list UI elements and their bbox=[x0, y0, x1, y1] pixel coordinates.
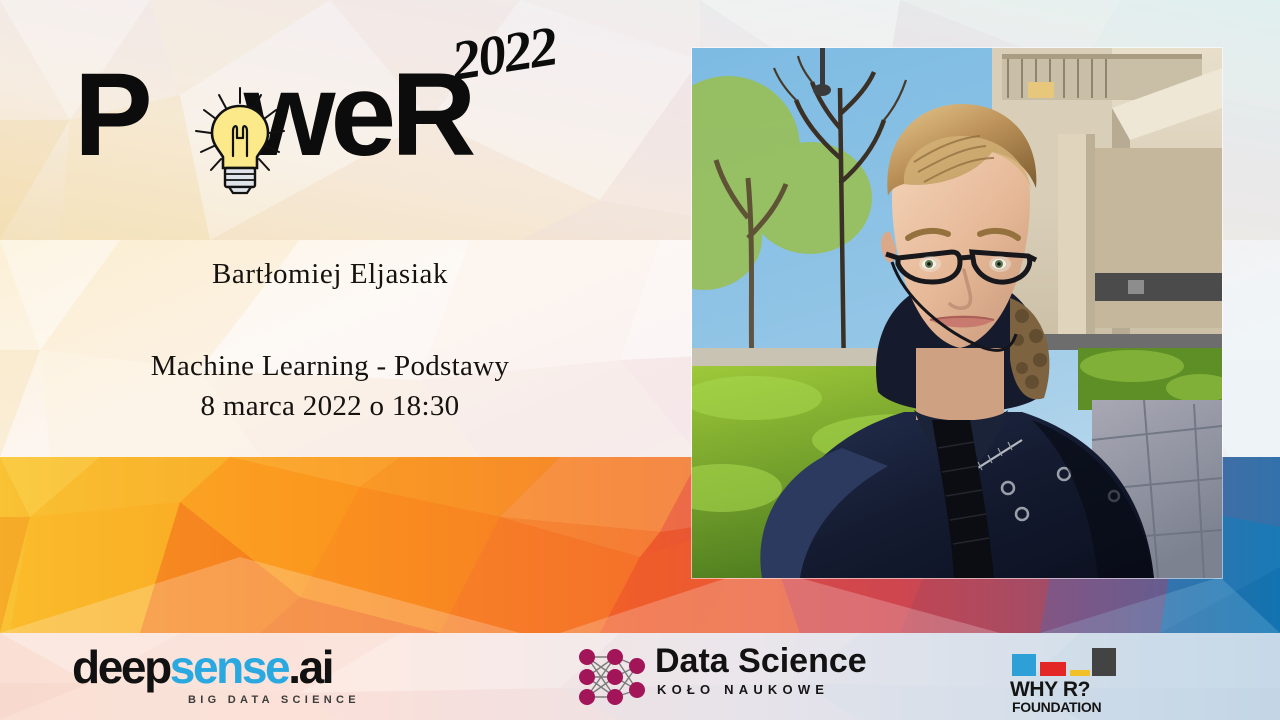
logo-datascience[interactable]: Data Science KOŁO NAUKOWE bbox=[575, 644, 825, 714]
speaker-name: Bartłomiej Eljasiak bbox=[0, 256, 660, 292]
deepsense-ai: .ai bbox=[288, 641, 332, 693]
presentation-slide: PweR bbox=[0, 0, 1280, 720]
talk-datetime: 8 marca 2022 o 18:30 bbox=[0, 386, 660, 426]
talk-info: Bartłomiej Eljasiak Machine Learning - P… bbox=[0, 256, 660, 426]
event-logo: PweR bbox=[74, 38, 594, 178]
deepsense-tagline: BIG DATA SCIENCE bbox=[188, 694, 360, 706]
deepsense-sense: sense bbox=[170, 641, 288, 693]
whyr-title: WHY R? bbox=[1010, 679, 1090, 700]
whyr-subtitle: FOUNDATION bbox=[1012, 700, 1101, 714]
logo-whyr[interactable]: WHY R? FOUNDATION bbox=[1012, 648, 1142, 714]
talk-title: Machine Learning - Podstawy bbox=[0, 346, 660, 386]
logo-letter-p: P bbox=[74, 56, 148, 174]
datascience-title: Data Science bbox=[655, 642, 867, 680]
logo-deepsense[interactable]: deepsense.ai bbox=[72, 644, 332, 690]
deepsense-deep: deep bbox=[72, 641, 170, 693]
datascience-subtitle: KOŁO NAUKOWE bbox=[657, 682, 829, 697]
lightbulb-icon bbox=[192, 86, 288, 196]
neural-network-icon bbox=[575, 646, 647, 713]
speaker-photo bbox=[692, 48, 1222, 578]
